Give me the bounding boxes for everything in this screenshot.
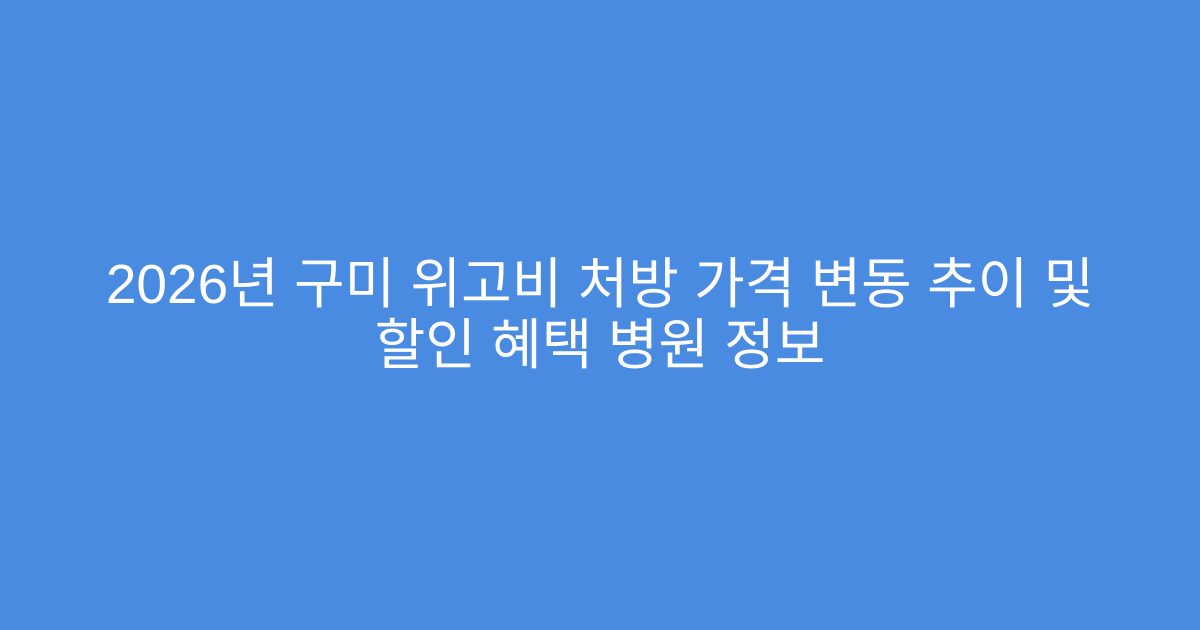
page-title: 2026년 구미 위고비 처방 가격 변동 추이 및 할인 혜택 병원 정보	[80, 254, 1120, 376]
og-card-canvas: 2026년 구미 위고비 처방 가격 변동 추이 및 할인 혜택 병원 정보	[0, 0, 1200, 630]
